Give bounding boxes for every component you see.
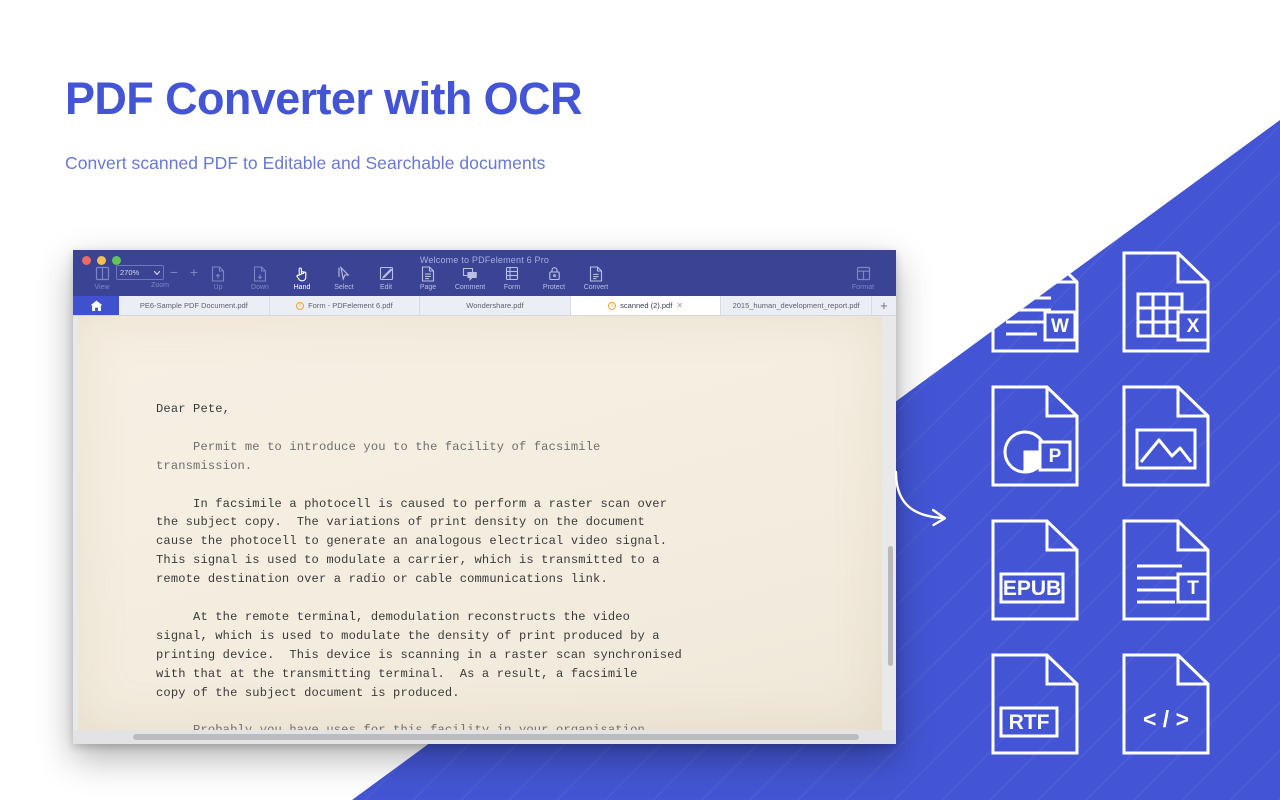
page-up-icon: [211, 265, 225, 282]
document-tab-bar: PE6-Sample PDF Document.pdf ! Form - PDF…: [73, 296, 896, 316]
page-subtitle: Convert scanned PDF to Editable and Sear…: [65, 153, 582, 174]
document-viewport[interactable]: Dear Pete, Permit me to introduce you to…: [73, 316, 896, 744]
application-window: Welcome to PDFelement 6 Pro View 270%: [73, 250, 896, 744]
new-tab-button[interactable]: +: [872, 296, 896, 315]
doc-salutation: Dear Pete,: [156, 402, 230, 416]
tab-label: PE6-Sample PDF Document.pdf: [140, 301, 248, 310]
zoom-value: 270%: [120, 268, 139, 277]
format-icon-image[interactable]: [1116, 382, 1215, 490]
zoom-select[interactable]: 270%: [116, 265, 164, 280]
convert-icon: [589, 265, 603, 282]
format-icon-rtf[interactable]: RTF: [985, 650, 1084, 758]
format-badge: EPUB: [1002, 577, 1060, 600]
form-icon: [505, 265, 519, 282]
doc-paragraph-4: Probably you have uses for this facility…: [156, 723, 652, 730]
toolbar-button-form[interactable]: Form: [491, 264, 533, 292]
output-format-grid: W X P EPUB: [985, 248, 1215, 758]
toolbar-label-form: Form: [504, 284, 520, 292]
doc-paragraph-3: At the remote terminal, demodulation rec…: [156, 610, 682, 700]
page-down-icon: [253, 265, 267, 282]
toolbar-label-format: Format: [852, 284, 874, 292]
toolbar-button-down[interactable]: Down: [239, 264, 281, 292]
format-badge: < / >: [1142, 706, 1188, 732]
zoom-control-group: 270% − + Zoom: [123, 264, 197, 290]
lock-icon: [548, 265, 561, 282]
toolbar-button-select[interactable]: Select: [323, 264, 365, 292]
curved-arrow-right-icon: [893, 470, 957, 541]
toolbar-button-comment[interactable]: Comment: [449, 264, 491, 292]
toolbar-label-hand: Hand: [294, 284, 311, 292]
format-panel-icon: [856, 265, 871, 282]
toolbar-button-format[interactable]: Format: [842, 264, 884, 292]
format-badge: W: [1051, 316, 1069, 337]
doc-paragraph-1: Permit me to introduce you to the facili…: [156, 440, 600, 473]
format-icon-word[interactable]: W: [985, 248, 1084, 356]
tab-human-development-report[interactable]: 2015_human_development_report.pdf: [721, 296, 872, 315]
doc-paragraph-2: In facsimile a photocell is caused to pe…: [156, 497, 667, 587]
scanned-page: Dear Pete, Permit me to introduce you to…: [78, 316, 882, 730]
hero-section: PDF Converter with OCR Convert scanned P…: [65, 76, 582, 174]
toolbar-button-page[interactable]: Page: [407, 264, 449, 292]
cursor-icon: [337, 265, 351, 282]
toolbar-label-zoom: Zoom: [151, 282, 169, 290]
tab-label: Wondershare.pdf: [466, 301, 523, 310]
tab-wondershare[interactable]: Wondershare.pdf: [420, 296, 571, 315]
toolbar-button-hand[interactable]: Hand: [281, 264, 323, 292]
tab-pe6-sample[interactable]: PE6-Sample PDF Document.pdf: [119, 296, 270, 315]
pencil-square-icon: [379, 265, 394, 282]
format-icon-excel[interactable]: X: [1116, 248, 1215, 356]
tab-form-pdfelement[interactable]: ! Form - PDFelement 6.pdf: [270, 296, 421, 315]
toolbar-button-protect[interactable]: Protect: [533, 264, 575, 292]
zoom-out-button[interactable]: −: [164, 265, 184, 280]
toolbar-label-convert: Convert: [584, 284, 609, 292]
horizontal-scrollbar[interactable]: [133, 734, 859, 740]
toolbar-button-edit[interactable]: Edit: [365, 264, 407, 292]
toolbar-label-down: Down: [251, 284, 269, 292]
page-icon: [421, 265, 435, 282]
toolbar-label-up: Up: [214, 284, 223, 292]
format-badge: X: [1186, 316, 1199, 337]
main-toolbar: View 270% − + Zoom: [73, 264, 896, 296]
comment-icon: [462, 265, 478, 282]
toolbar-label-edit: Edit: [380, 284, 392, 292]
toolbar-label-view: View: [94, 284, 109, 292]
hand-icon: [295, 265, 309, 282]
toolbar-label-protect: Protect: [543, 284, 565, 292]
toolbar-button-convert[interactable]: Convert: [575, 264, 617, 292]
tab-label: scanned (2).pdf: [620, 301, 672, 310]
toolbar-label-select: Select: [334, 284, 353, 292]
window-titlebar: Welcome to PDFelement 6 Pro View 270%: [73, 250, 896, 296]
home-icon: [90, 300, 103, 312]
page-title: PDF Converter with OCR: [65, 76, 582, 121]
toolbar-label-comment: Comment: [455, 284, 485, 292]
format-badge: P: [1048, 446, 1061, 467]
zoom-row: 270% − +: [116, 265, 204, 280]
format-badge: T: [1187, 578, 1199, 599]
tab-label: Form - PDFelement 6.pdf: [308, 301, 393, 310]
toolbar-button-up[interactable]: Up: [197, 264, 239, 292]
close-tab-icon[interactable]: ✕: [676, 301, 683, 310]
warning-icon: !: [296, 302, 304, 310]
tab-scanned-2[interactable]: ! scanned (2).pdf ✕: [571, 296, 722, 315]
document-text: Dear Pete, Permit me to introduce you to…: [78, 316, 882, 730]
chevron-down-icon: [154, 271, 160, 275]
split-view-icon: [95, 265, 110, 282]
format-icon-html[interactable]: < / >: [1116, 650, 1215, 758]
home-tab-button[interactable]: [73, 296, 119, 315]
vertical-scrollbar[interactable]: [888, 546, 893, 666]
format-icon-powerpoint[interactable]: P: [985, 382, 1084, 490]
toolbar-label-page: Page: [420, 284, 436, 292]
tab-label: 2015_human_development_report.pdf: [733, 301, 860, 310]
format-badge: RTF: [1008, 711, 1049, 734]
warning-icon: !: [608, 302, 616, 310]
format-icon-epub[interactable]: EPUB: [985, 516, 1084, 624]
format-icon-text[interactable]: T: [1116, 516, 1215, 624]
